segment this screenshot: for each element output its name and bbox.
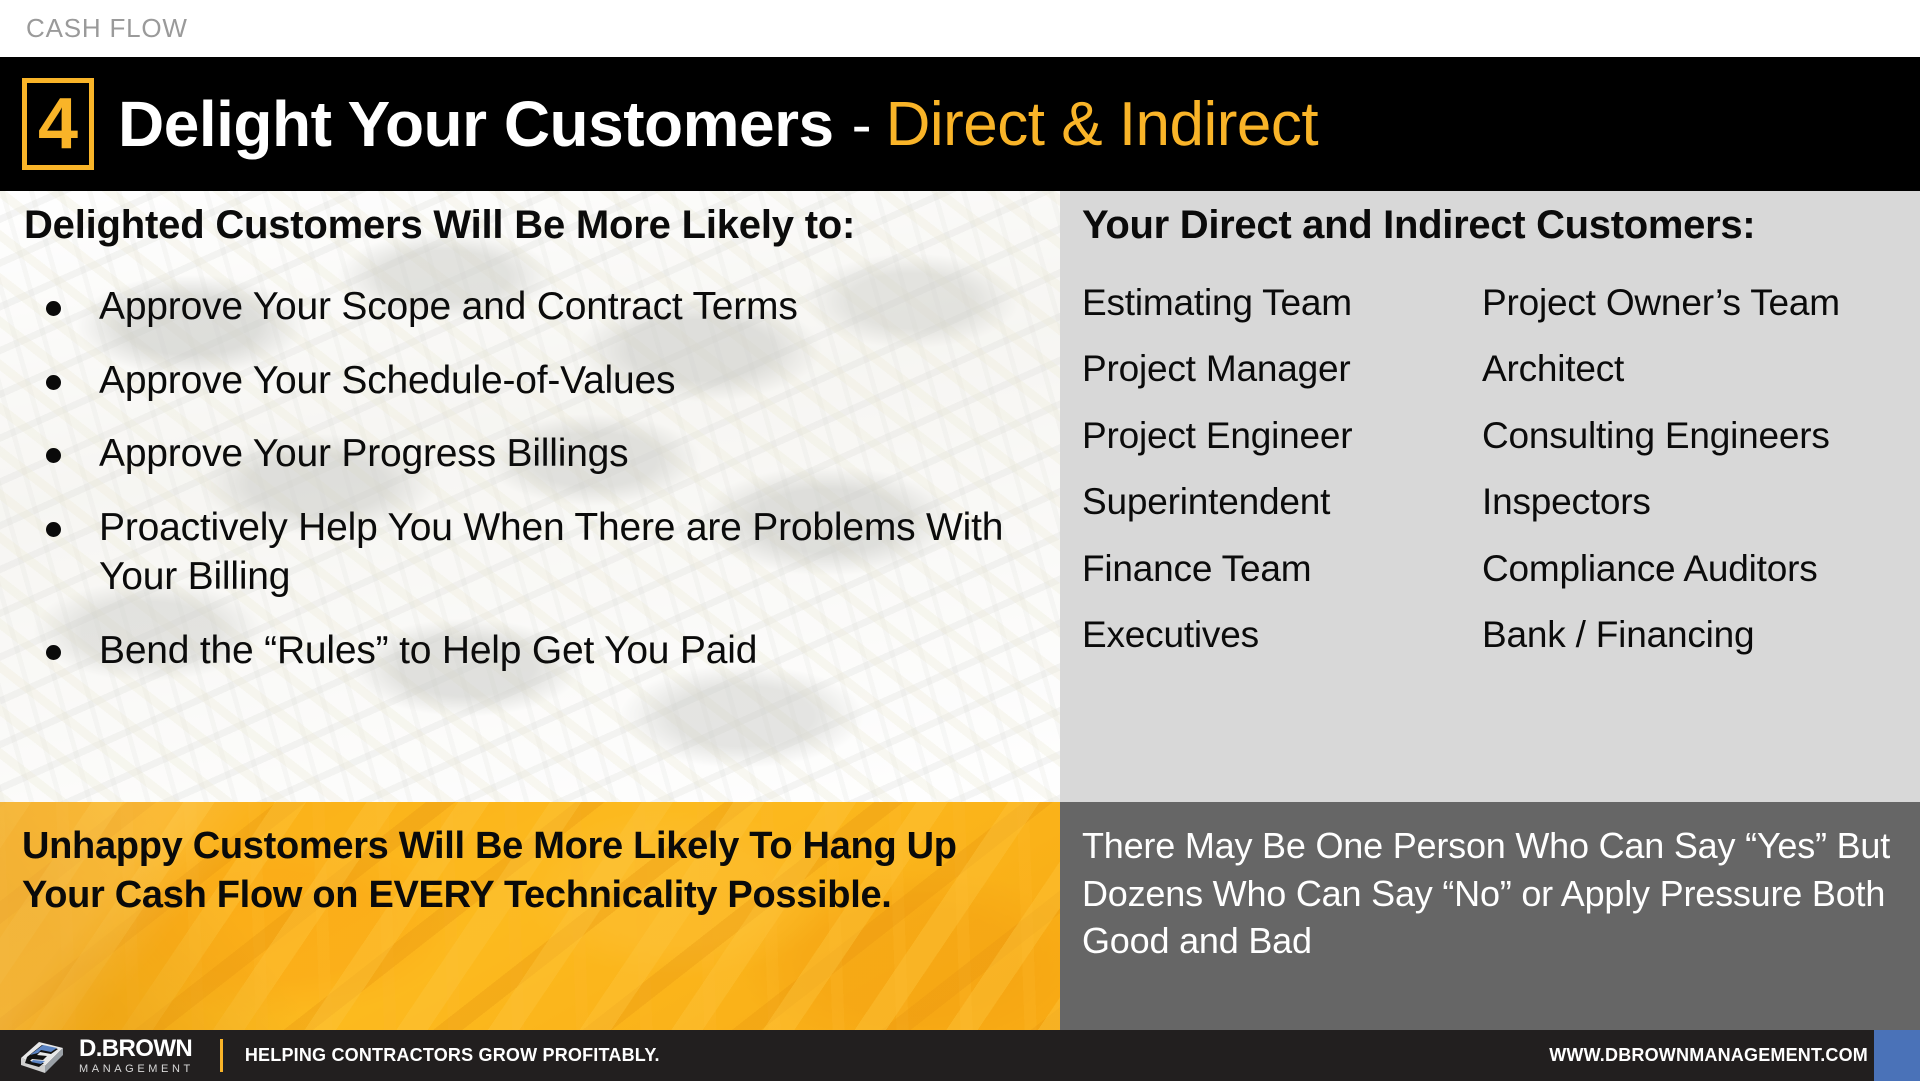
bullet-dot-icon bbox=[46, 375, 61, 390]
footer-divider bbox=[220, 1039, 223, 1072]
customers-heading: Your Direct and Indirect Customers: bbox=[1082, 203, 1920, 248]
list-item: Approve Your Scope and Contract Terms bbox=[24, 282, 1034, 332]
delighted-customers-content: Delighted Customers Will Be More Likely … bbox=[0, 191, 1060, 675]
unhappy-customers-callout: Unhappy Customers Will Be More Likely To… bbox=[0, 802, 1060, 1030]
customer-direct: Estimating Team bbox=[1082, 282, 1482, 323]
title-main: Delight Your Customers bbox=[118, 87, 834, 161]
step-number-badge: 4 bbox=[22, 78, 94, 170]
footer-bar: D.BROWN MANAGEMENT HELPING CONTRACTORS G… bbox=[0, 1030, 1920, 1081]
kicker-bar: CASH FLOW bbox=[0, 0, 1920, 57]
decision-makers-text: There May Be One Person Who Can Say “Yes… bbox=[1082, 822, 1892, 965]
bullet-label: Proactively Help You When There are Prob… bbox=[99, 503, 1034, 602]
customer-indirect: Project Owner’s Team bbox=[1482, 282, 1920, 323]
brand-subtitle: MANAGEMENT bbox=[79, 1064, 194, 1075]
delighted-customers-heading: Delighted Customers Will Be More Likely … bbox=[24, 203, 1060, 248]
step-number: 4 bbox=[38, 88, 78, 160]
list-item: Bend the “Rules” to Help Get You Paid bbox=[24, 626, 1034, 676]
decision-makers-callout: There May Be One Person Who Can Say “Yes… bbox=[1060, 802, 1920, 1030]
bullet-dot-icon bbox=[46, 645, 61, 660]
customer-direct: Executives bbox=[1082, 614, 1482, 655]
brand-name: D.BROWN bbox=[79, 1037, 194, 1061]
list-item: Proactively Help You When There are Prob… bbox=[24, 503, 1034, 602]
customer-indirect: Compliance Auditors bbox=[1482, 548, 1920, 589]
list-item: Approve Your Schedule-of-Values bbox=[24, 356, 1034, 406]
customer-indirect: Consulting Engineers bbox=[1482, 415, 1920, 456]
slide-root: CASH FLOW 4 Delight Your Customers - Dir… bbox=[0, 0, 1920, 1081]
bullet-label: Approve Your Scope and Contract Terms bbox=[99, 282, 798, 332]
delighted-customers-panel: Delighted Customers Will Be More Likely … bbox=[0, 191, 1060, 802]
footer-website-url[interactable]: WWW.DBROWNMANAGEMENT.COM bbox=[1549, 1045, 1868, 1066]
customer-direct: Project Engineer bbox=[1082, 415, 1482, 456]
direct-indirect-customers-panel: Your Direct and Indirect Customers: Esti… bbox=[1060, 191, 1920, 802]
delighted-customers-bullet-list: Approve Your Scope and Contract Terms Ap… bbox=[24, 282, 1060, 675]
customer-indirect: Inspectors bbox=[1482, 481, 1920, 522]
bullet-label: Approve Your Progress Billings bbox=[99, 429, 628, 479]
title-dash: - bbox=[852, 90, 872, 159]
unhappy-customers-text: Unhappy Customers Will Be More Likely To… bbox=[0, 802, 1060, 919]
bullet-label: Bend the “Rules” to Help Get You Paid bbox=[99, 626, 757, 676]
footer-tagline: HELPING CONTRACTORS GROW PROFITABLY. bbox=[245, 1045, 660, 1066]
list-item: Approve Your Progress Billings bbox=[24, 429, 1034, 479]
customer-direct: Finance Team bbox=[1082, 548, 1482, 589]
footer-accent-block bbox=[1874, 1030, 1920, 1081]
title-bar: 4 Delight Your Customers - Direct & Indi… bbox=[0, 57, 1920, 191]
customer-indirect: Bank / Financing bbox=[1482, 614, 1920, 655]
customer-direct: Project Manager bbox=[1082, 348, 1482, 389]
bullet-label: Approve Your Schedule-of-Values bbox=[99, 356, 675, 406]
bullet-dot-icon bbox=[46, 301, 61, 316]
bullet-dot-icon bbox=[46, 448, 61, 463]
customer-indirect: Architect bbox=[1482, 348, 1920, 389]
dbrown-cube-logo-icon bbox=[18, 1036, 66, 1076]
kicker-label: CASH FLOW bbox=[26, 13, 188, 44]
customers-grid: Estimating Team Project Owner’s Team Pro… bbox=[1082, 282, 1920, 656]
brand-wordmark: D.BROWN MANAGEMENT bbox=[79, 1037, 194, 1075]
title-accent: Direct & Indirect bbox=[886, 89, 1319, 160]
customer-direct: Superintendent bbox=[1082, 481, 1482, 522]
bullet-dot-icon bbox=[46, 522, 61, 537]
